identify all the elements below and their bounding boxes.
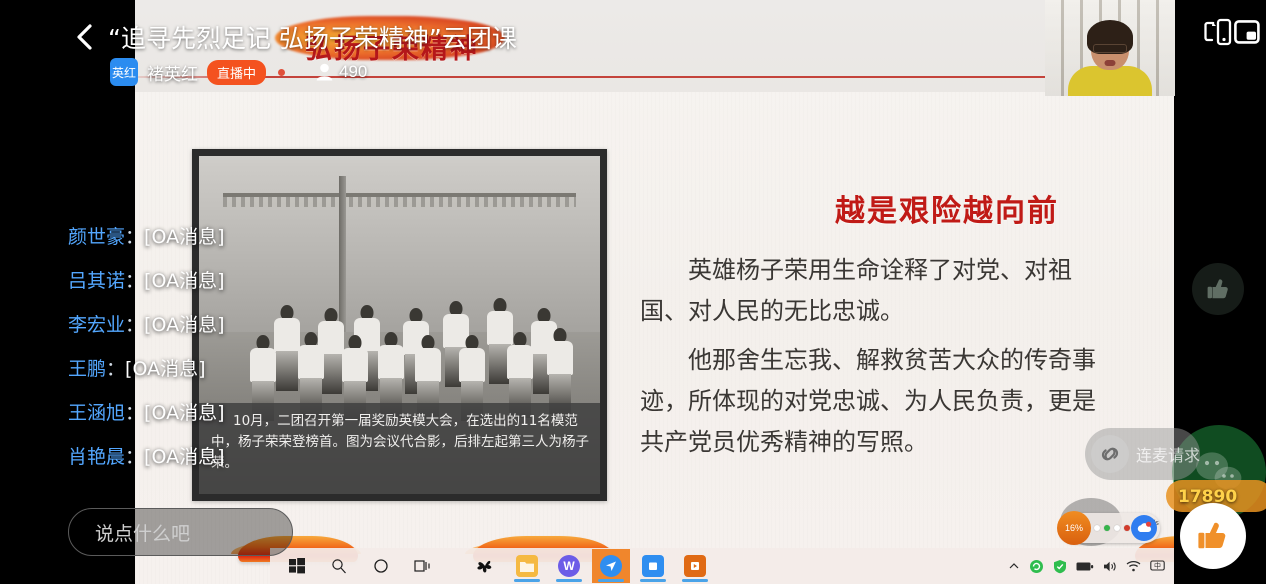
search-icon[interactable]: [318, 549, 360, 583]
avatar[interactable]: 英红: [110, 58, 138, 86]
chat-message-text: [OA消息]: [125, 358, 205, 380]
viewer-count: 490: [316, 62, 367, 82]
system-tray: 中 15:06 周日 2021/2/7: [1008, 553, 1174, 579]
thumbs-up-icon: [1193, 516, 1233, 556]
chevron-left-icon: [74, 23, 96, 51]
like-ghost-button[interactable]: [1192, 263, 1244, 315]
chat-message-text: [OA消息]: [144, 270, 224, 292]
cpu-usage-badge[interactable]: 16%: [1057, 511, 1091, 545]
chat-sender-name: 颜世豪: [68, 226, 125, 248]
chat-separator: ：: [125, 446, 144, 468]
chat-sender-name: 王鹏: [68, 358, 106, 380]
host-info-row: 英红 褚英红 直播中 490: [110, 58, 367, 86]
chat-message-text: [OA消息]: [144, 402, 224, 424]
net-dot: [1124, 525, 1130, 531]
cortana-circle-icon[interactable]: [360, 549, 402, 583]
host-glasses: [1093, 44, 1127, 53]
chat-message-text: [OA消息]: [144, 314, 224, 336]
thumbs-up-icon: [1204, 275, 1232, 303]
host-name: 褚英红: [147, 60, 198, 85]
person-icon: [316, 63, 333, 81]
viewer-count-value: 490: [339, 62, 367, 82]
chat-sender-name: 王涵旭: [68, 402, 125, 424]
mic-request-label: 连麦请求: [1136, 442, 1200, 466]
live-class-screen: 弘扬子荣精神: [0, 0, 1266, 584]
chat-message-list[interactable]: 颜世豪：[OA消息] 吕其诺：[OA消息] 李宏业：[OA消息] 王鹏：[OA消…: [68, 225, 398, 489]
chat-separator: ：: [106, 358, 125, 380]
slide-heading: 越是艰险越向前: [742, 186, 1152, 230]
chat-message: 李宏业：[OA消息]: [68, 313, 398, 338]
shield-icon[interactable]: [1053, 559, 1067, 574]
cloud-icon[interactable]: [1131, 515, 1157, 541]
link-mic-icon: [1091, 435, 1129, 473]
message-input[interactable]: 说点什么吧: [68, 508, 293, 556]
message-input-placeholder: 说点什么吧: [95, 519, 190, 546]
chevron-up-icon[interactable]: [1008, 560, 1020, 572]
ime-icon[interactable]: 中: [1150, 560, 1165, 573]
wifi-icon[interactable]: [1126, 560, 1141, 572]
picture-in-picture-icon[interactable]: [1234, 20, 1260, 44]
page-title: “追寻先烈足记 弘扬子荣精神”云团课: [108, 19, 517, 55]
chat-sender-name: 肖艳晨: [68, 446, 125, 468]
app-icon-pinwheel[interactable]: [466, 549, 504, 583]
net-status-dots: [1094, 525, 1130, 531]
app-icon-explorer[interactable]: [508, 549, 546, 583]
live-dot-indicator: [278, 69, 285, 76]
chat-message: 王鹏：[OA消息]: [68, 357, 398, 382]
host-mouth: [1105, 60, 1116, 66]
chat-separator: ：: [125, 402, 144, 424]
chat-separator: ：: [125, 270, 144, 292]
chat-message-text: [OA消息]: [144, 226, 224, 248]
slide-paragraph: 他那舍生忘我、解救贫苦大众的传奇事迹，所体现的对党忠诚、为人民负责，更是共产党员…: [640, 340, 1100, 463]
back-button[interactable]: [68, 20, 102, 54]
like-button[interactable]: [1180, 503, 1246, 569]
host-body: [1068, 66, 1152, 96]
chat-sender-name: 吕其诺: [68, 270, 125, 292]
windows-start-icon[interactable]: [276, 549, 318, 583]
chat-message-text: [OA消息]: [144, 446, 224, 468]
battery-icon[interactable]: [1076, 561, 1094, 572]
chat-message: 肖艳晨：[OA消息]: [68, 445, 398, 470]
volume-icon[interactable]: [1103, 560, 1117, 573]
windows-taskbar[interactable]: W: [270, 548, 1174, 584]
net-dot: [1104, 525, 1110, 531]
chat-message: 颜世豪：[OA消息]: [68, 225, 398, 250]
sync-icon[interactable]: [1029, 559, 1044, 574]
host-video-thumbnail[interactable]: [1045, 0, 1175, 96]
mic-request-button[interactable]: 连麦请求: [1085, 428, 1200, 480]
status-badge: 直播中: [207, 60, 266, 85]
task-view-icon[interactable]: [402, 549, 444, 583]
app-icon-calendar[interactable]: [634, 549, 672, 583]
net-dot: [1114, 525, 1120, 531]
chat-separator: ：: [125, 314, 144, 336]
taskbar-left-group: W: [270, 549, 716, 583]
net-dot: [1094, 525, 1100, 531]
app-icon-meeting[interactable]: [592, 549, 630, 583]
svg-text:中: 中: [1154, 561, 1161, 570]
chat-message: 王涵旭：[OA消息]: [68, 401, 398, 426]
slide-paragraph: 英雄杨子荣用生命诠释了对党、对祖国、对人民的无比忠诚。: [640, 250, 1100, 332]
screen-cast-icon[interactable]: [1200, 16, 1232, 48]
chat-separator: ：: [125, 226, 144, 248]
photo-eave: [223, 193, 576, 197]
app-icon-video[interactable]: [676, 549, 714, 583]
app-icon-browser[interactable]: W: [550, 549, 588, 583]
chat-sender-name: 李宏业: [68, 314, 125, 336]
chat-message: 吕其诺：[OA消息]: [68, 269, 398, 294]
